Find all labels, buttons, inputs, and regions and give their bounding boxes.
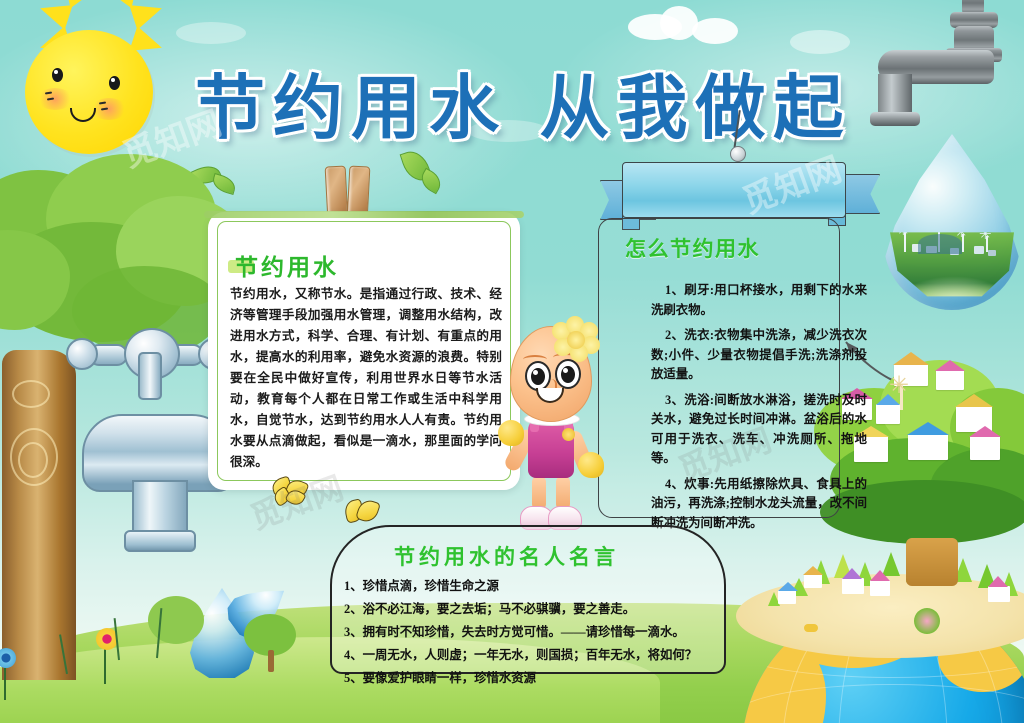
glove-icon xyxy=(578,452,604,478)
earth-globe xyxy=(742,556,1024,723)
list-item: 4、炊事:先用纸擦除炊具、食具上的油污，再洗涤;控制水龙头流量，改不间断冲洗为间… xyxy=(651,475,867,534)
list-item: 1、珍惜点滴，珍惜生命之源 xyxy=(344,577,716,595)
cloud-icon xyxy=(790,30,850,54)
tree-trunk xyxy=(268,650,274,672)
eco-water-drop xyxy=(884,134,1020,310)
cloud-icon xyxy=(692,18,738,44)
windmill-icon xyxy=(900,384,903,410)
thumbs-up-glove-icon xyxy=(498,420,524,446)
list-item: 2、浴不必江海，要之去垢；马不必骐骥，要之善走。 xyxy=(344,600,716,618)
green-wave-divider xyxy=(204,211,524,218)
flower-hair-accessory xyxy=(552,318,600,362)
list-item: 5、要像爱护眼睛一样，珍惜水资源 xyxy=(344,669,716,687)
girl-mascot xyxy=(490,320,612,538)
list-item: 3、洗浴:间断放水淋浴，搓洗时及时关水，避免过长时间冲淋。盆浴后的水可用于洗衣、… xyxy=(651,391,867,469)
list-item: 3、拥有时不知珍惜，失去时方觉可惜。——请珍惜每一滴水。 xyxy=(344,623,716,641)
sun-face xyxy=(25,30,153,154)
list-item: 4、一周无水，人则虚；一年无水，则国损；百年无水，将如何？ xyxy=(344,646,716,664)
ribbon-label xyxy=(622,162,846,218)
list-item: 2、洗衣:衣物集中洗涤，减少洗衣次数;小件、少量衣物提倡手洗;洗涤剂投放适量。 xyxy=(651,326,867,385)
poster-canvas: 节约用水 从我做起 节约用水 节约用水，又称节水。是指通过行政、技术、经济等管理… xyxy=(0,0,1024,723)
hook-icon xyxy=(730,146,746,162)
bush-icon xyxy=(148,596,204,644)
quote-content-box: 节约用水的名人名言 1、珍惜点滴，珍惜生命之源 2、浴不必江海，要之去垢；马不必… xyxy=(330,525,726,674)
quote-box-heading: 节约用水的名人名言 xyxy=(394,541,619,571)
left-box-heading: 节约用水 xyxy=(235,248,339,282)
left-content-box: 节约用水 节约用水，又称节水。是指通过行政、技术、经济等管理手段加强用水管理，调… xyxy=(208,212,520,490)
right-box-heading: 怎么节约用水 xyxy=(625,233,760,263)
right-box-list: 1、刷牙:用口杯接水，用剩下的水来洗刷衣物。 2、洗衣:衣物集中洗涤，减少洗衣次… xyxy=(611,281,867,539)
butterfly-icon xyxy=(345,500,377,528)
list-item: 1、刷牙:用口杯接水，用剩下的水来洗刷衣物。 xyxy=(651,281,867,320)
quote-list: 1、珍惜点滴，珍惜生命之源 2、浴不必江海，要之去垢；马不必骐骥，要之善走。 3… xyxy=(344,577,716,692)
left-box-body: 节约用水，又称节水。是指通过行政、技术、经济等管理手段加强用水管理，调整用水结构… xyxy=(230,284,502,473)
page-title: 节约用水 从我做起 xyxy=(195,62,895,154)
butterfly-icon xyxy=(272,478,306,506)
right-content-box: 怎么节约用水 1、刷牙:用口杯接水，用剩下的水来洗刷衣物。 2、洗衣:衣物集中洗… xyxy=(598,218,840,518)
